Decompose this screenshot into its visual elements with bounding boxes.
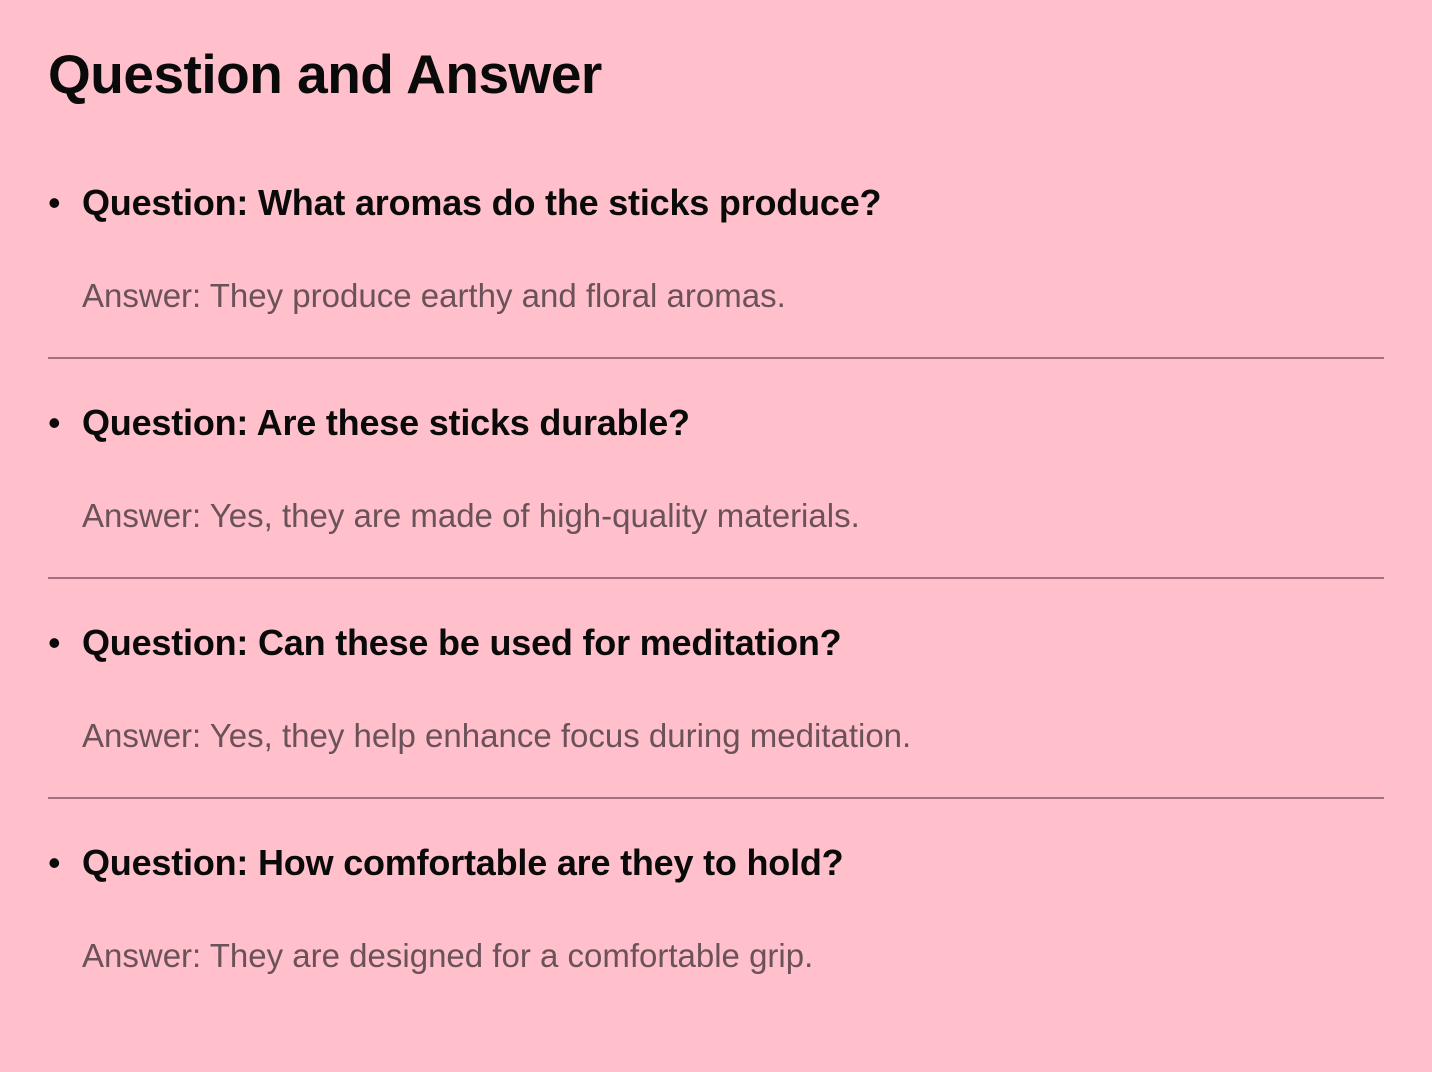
question-text: Question: Are these sticks durable? xyxy=(82,400,690,446)
qa-question-row: • Question: What aromas do the sticks pr… xyxy=(48,180,1392,226)
qa-item: • Question: Can these be used for medita… xyxy=(0,608,1432,828)
bullet-icon: • xyxy=(48,840,82,886)
answer-text: Answer: They are designed for a comforta… xyxy=(82,934,1392,978)
bullet-icon: • xyxy=(48,180,82,226)
question-text: Question: How comfortable are they to ho… xyxy=(82,840,843,886)
question-text: Question: What aromas do the sticks prod… xyxy=(82,180,881,226)
page-title: Question and Answer xyxy=(48,42,602,107)
qa-item: • Question: Are these sticks durable? An… xyxy=(0,388,1432,608)
answer-text: Answer: They produce earthy and floral a… xyxy=(82,274,1392,318)
bullet-icon: • xyxy=(48,400,82,446)
qa-page: Question and Answer • Question: What aro… xyxy=(0,0,1432,1072)
bullet-icon: • xyxy=(48,620,82,666)
qa-item: • Question: How comfortable are they to … xyxy=(0,828,1432,1048)
qa-question-row: • Question: How comfortable are they to … xyxy=(48,840,1392,886)
qa-list: • Question: What aromas do the sticks pr… xyxy=(0,168,1432,1048)
question-text: Question: Can these be used for meditati… xyxy=(82,620,841,666)
answer-text: Answer: Yes, they are made of high-quali… xyxy=(82,494,1392,538)
qa-item: • Question: What aromas do the sticks pr… xyxy=(0,168,1432,388)
answer-text: Answer: Yes, they help enhance focus dur… xyxy=(82,714,1392,758)
qa-question-row: • Question: Are these sticks durable? xyxy=(48,400,1392,446)
qa-question-row: • Question: Can these be used for medita… xyxy=(48,620,1392,666)
